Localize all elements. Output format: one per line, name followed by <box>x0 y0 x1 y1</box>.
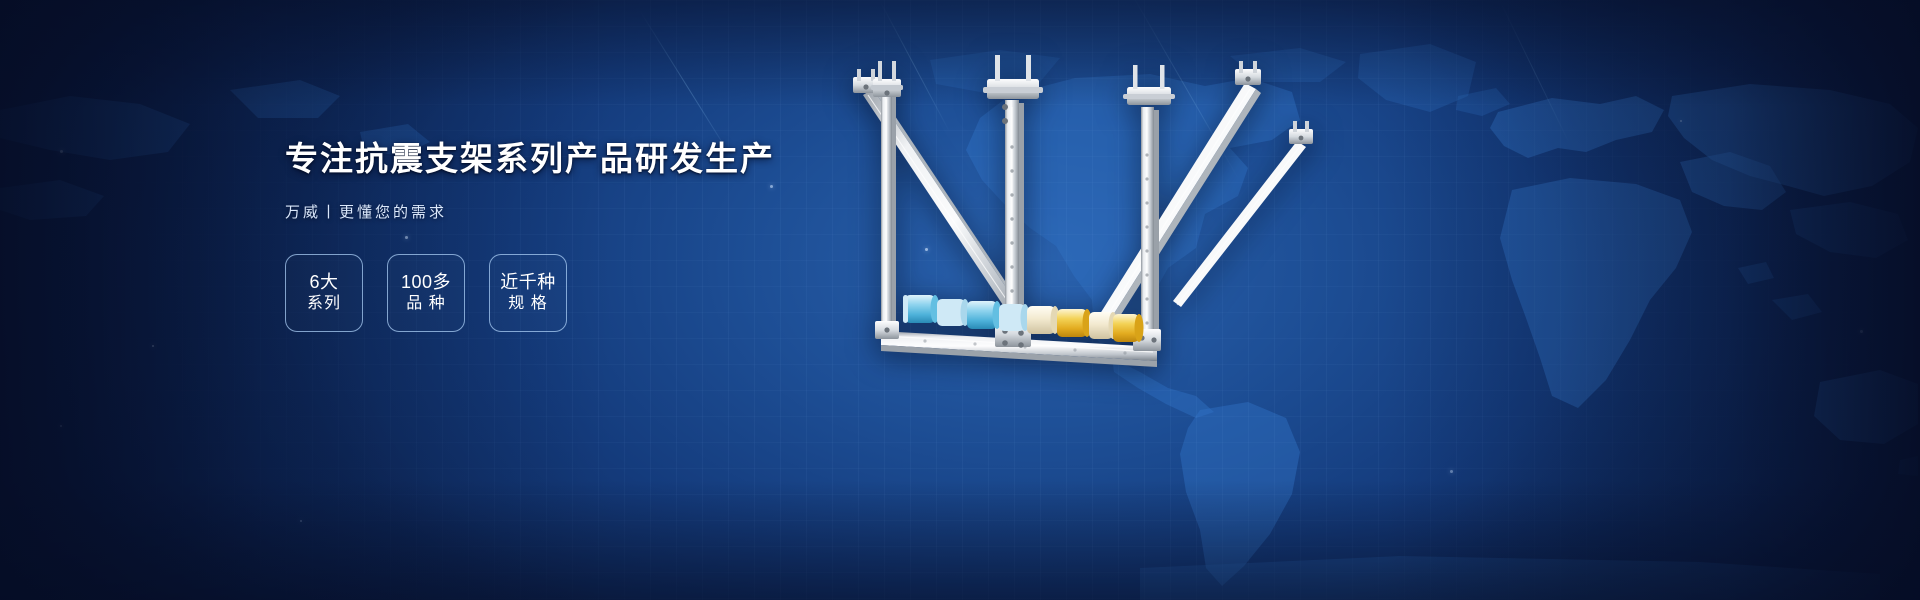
pipe-sleeve-blue-1 <box>937 299 970 326</box>
vertical-strut-right <box>1141 107 1159 345</box>
pipe-sleeve-yellow-1 <box>1057 309 1092 337</box>
badge-series-bottom: 系列 <box>307 294 341 315</box>
base-joint-plate-left <box>875 321 899 339</box>
badge-varieties[interactable]: 100多 品 种 <box>387 254 465 332</box>
page-title: 专注抗震支架系列产品研发生产 <box>285 140 755 179</box>
pipe-sleeve-blue-2 <box>999 304 1030 331</box>
pipe-sleeve-cyan-2 <box>967 301 1002 329</box>
badge-varieties-bottom: 品 种 <box>406 294 445 315</box>
seismic-bracing-product-image <box>845 55 1325 405</box>
pipe-sleeve-cyan-1 <box>903 295 940 323</box>
brace-end-clamp-right <box>1235 61 1261 85</box>
banner-subtitle: 万威丨更懂您的需求 <box>285 201 755 222</box>
badge-series[interactable]: 6大 系列 <box>285 254 363 332</box>
beam-clamp-top-right <box>1123 65 1175 105</box>
badge-varieties-top: 100多 <box>401 271 451 294</box>
pipe-sleeve-cream-1 <box>1027 306 1060 334</box>
pipe-sleeve-yellow-2 <box>1113 314 1144 342</box>
banner-copy: 专注抗震支架系列产品研发生产 万威丨更懂您的需求 6大 系列 100多 品 种 … <box>285 140 755 332</box>
beam-clamp-left <box>871 61 903 97</box>
badge-specifications[interactable]: 近千种 规 格 <box>489 254 567 332</box>
hero-banner: 专注抗震支架系列产品研发生产 万威丨更懂您的需求 6大 系列 100多 品 种 … <box>0 0 1920 600</box>
vertical-strut-left <box>881 93 896 333</box>
brace-end-clamp-far-right <box>1289 121 1313 144</box>
badge-series-top: 6大 <box>309 271 338 294</box>
badge-specifications-bottom: 规 格 <box>508 294 547 315</box>
feature-badges: 6大 系列 100多 品 种 近千种 规 格 <box>285 254 755 332</box>
badge-specifications-top: 近千种 <box>500 271 556 294</box>
